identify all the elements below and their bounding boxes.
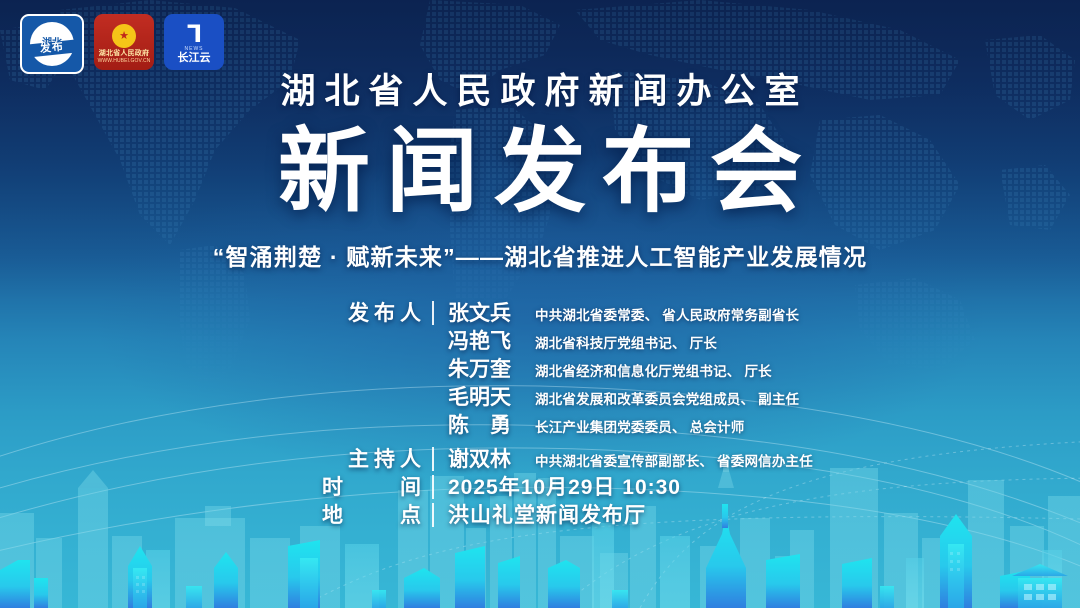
speaker-name: 冯艳飞 — [448, 331, 526, 352]
speakers-label-text: 发布人 — [348, 302, 426, 325]
speakers-row-1: 发布人 张文兵 中共湖北省委常委、 省人民政府常务副省长 — [0, 303, 1080, 324]
page-subtitle: “智涌荆楚 · 赋新未来”——湖北省推进人工智能产业发展情况 — [0, 242, 1080, 272]
speaker-name: 毛明天 — [448, 387, 526, 408]
time-value: 2025年10月29日 10:30 — [448, 477, 681, 498]
time-value-wrap: 2025年10月29日 10:30 — [440, 477, 1080, 498]
speaker-2: 冯艳飞 湖北省科技厅党组书记、 厅长 — [440, 331, 1080, 352]
speaker-1: 张文兵 中共湖北省委常委、 省人民政府常务副省长 — [440, 303, 1080, 324]
time-row: 时 间 2025年10月29日 10:30 — [0, 477, 1080, 498]
speaker-name: 陈 勇 — [448, 415, 526, 436]
changjiang-yun-logo-name: 长江云 — [178, 52, 211, 64]
hubei-fabu-logo[interactable]: 湖北 发布 — [20, 14, 84, 74]
hubei-government-logo-name: 湖北省人民政府 — [99, 50, 149, 58]
hubei-government-logo[interactable]: ★ 湖北省人民政府 WWW.HUBEI.GOV.CN — [94, 14, 154, 70]
time-label: 时 间 — [0, 477, 440, 498]
hubei-fabu-logo-inner: 湖北 发布 — [22, 16, 82, 72]
speaker-title: 湖北省经济和信息化厅党组书记、 厅长 — [535, 364, 772, 380]
speaker-5: 陈 勇 长江产业集团党委委员、 总会计师 — [440, 415, 1080, 436]
national-emblem-icon: ★ — [112, 24, 136, 48]
hubei-government-logo-url: WWW.HUBEI.GOV.CN — [98, 58, 151, 64]
divider-bar — [432, 503, 434, 527]
changjiang-yun-swoosh-icon: ꓶ — [187, 24, 200, 46]
divider-bar — [432, 447, 434, 471]
speaker-title: 长江产业集团党委委员、 总会计师 — [535, 420, 744, 436]
speaker-title: 湖北省发展和改革委员会党组成员、 副主任 — [535, 392, 799, 408]
speaker-name: 朱万奎 — [448, 359, 526, 380]
changjiang-yun-logo[interactable]: ꓶ NEWS 长江云 — [164, 14, 224, 70]
place-value-wrap: 洪山礼堂新闻发布厅 — [440, 505, 1080, 526]
speaker-3: 朱万奎 湖北省经济和信息化厅党组书记、 厅长 — [440, 359, 1080, 380]
speakers-row-3: 发布人 朱万奎 湖北省经济和信息化厅党组书记、 厅长 — [0, 359, 1080, 380]
place-label: 地 点 — [0, 505, 440, 526]
place-row: 地 点 洪山礼堂新闻发布厅 — [0, 505, 1080, 526]
speaker-4: 毛明天 湖北省发展和改革委员会党组成员、 副主任 — [440, 387, 1080, 408]
place-label-text: 地 点 — [322, 504, 426, 527]
info-block: 发布人 张文兵 中共湖北省委常委、 省人民政府常务副省长 发布人 冯艳飞 湖北省… — [0, 303, 1080, 533]
speakers-row-2: 发布人 冯艳飞 湖北省科技厅党组书记、 厅长 — [0, 331, 1080, 352]
logo-bar: 湖北 发布 ★ 湖北省人民政府 WWW.HUBEI.GOV.CN ꓶ NEWS … — [20, 14, 224, 74]
organization-title: 湖北省人民政府新闻办公室 — [0, 72, 1080, 112]
divider-bar — [432, 475, 434, 499]
place-value: 洪山礼堂新闻发布厅 — [448, 505, 646, 526]
speakers-label: 发布人 — [0, 303, 440, 324]
host-value: 谢双林 中共湖北省委宣传部副部长、 省委网信办主任 — [440, 449, 1080, 470]
host-title: 中共湖北省委宣传部副部长、 省委网信办主任 — [535, 454, 813, 470]
host-name: 谢双林 — [448, 449, 526, 470]
speakers-row-5: 发布人 陈 勇 长江产业集团党委委员、 总会计师 — [0, 415, 1080, 436]
speakers-row-4: 发布人 毛明天 湖北省发展和改革委员会党组成员、 副主任 — [0, 387, 1080, 408]
time-label-text: 时 间 — [322, 476, 426, 499]
divider-bar — [432, 301, 434, 325]
host-label-text: 主持人 — [348, 448, 426, 471]
news-conference-poster: 湖北 发布 ★ 湖北省人民政府 WWW.HUBEI.GOV.CN ꓶ NEWS … — [0, 0, 1080, 608]
page-title: 新闻发布会 — [0, 118, 1080, 226]
speaker-title: 湖北省科技厅党组书记、 厅长 — [535, 336, 717, 352]
host-row: 主持人 谢双林 中共湖北省委宣传部副部长、 省委网信办主任 — [0, 449, 1080, 470]
host-label: 主持人 — [0, 449, 440, 470]
speaker-name: 张文兵 — [448, 303, 526, 324]
speaker-title: 中共湖北省委常委、 省人民政府常务副省长 — [535, 308, 799, 324]
